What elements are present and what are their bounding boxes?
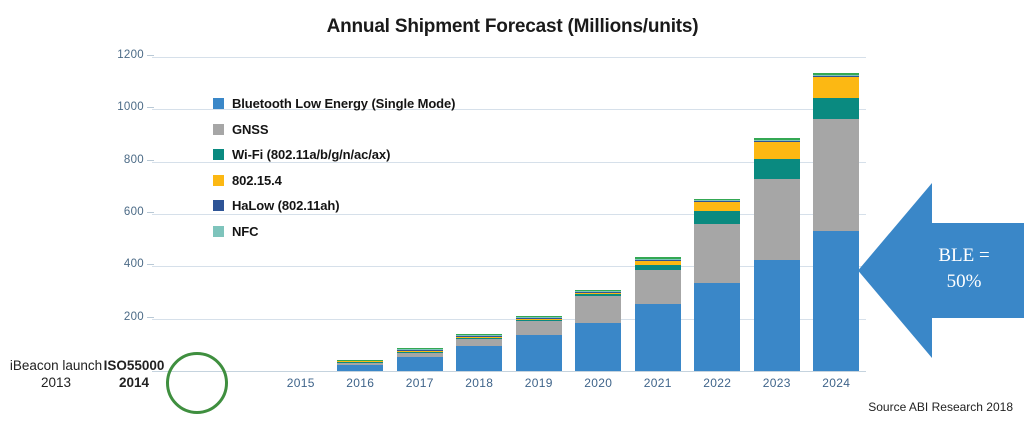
bar-2017	[397, 348, 443, 371]
bar-segment	[813, 77, 859, 98]
y-axis-tick-1200: 1200	[100, 49, 144, 61]
legend-swatch-icon	[213, 124, 224, 135]
y-tick-mark	[147, 264, 154, 265]
bar-segment	[694, 224, 740, 283]
bar-segment	[813, 231, 859, 371]
page-title: Annual Shipment Forecast (Millions/units…	[0, 16, 1025, 38]
bar-2021	[635, 257, 681, 371]
legend-swatch-icon	[213, 200, 224, 211]
y-tick-mark	[147, 212, 154, 213]
legend-swatch-icon	[213, 226, 224, 237]
highlight-circle-2015	[166, 352, 228, 414]
legend-item-label: Bluetooth Low Energy (Single Mode)	[232, 96, 455, 111]
legend-swatch-icon	[213, 175, 224, 186]
bar-segment	[635, 304, 681, 371]
legend-item-label: GNSS	[232, 122, 268, 137]
ble-callout-line2: 50%	[912, 269, 1016, 295]
bar-segment	[694, 211, 740, 224]
bar-segment	[337, 365, 383, 371]
legend-swatch-icon	[213, 149, 224, 160]
legend-item-0[interactable]: Bluetooth Low Energy (Single Mode)	[213, 91, 455, 117]
bar-segment	[754, 260, 800, 371]
bar-segment	[754, 142, 800, 159]
legend-swatch-icon	[213, 98, 224, 109]
y-axis-tick-800: 800	[100, 154, 144, 166]
legend-item-label: NFC	[232, 224, 258, 239]
legend-item-label: 802.15.4	[232, 173, 282, 188]
y-tick-mark	[147, 107, 154, 108]
ble-callout-line1: BLE =	[912, 243, 1016, 269]
ble-callout-arrow: BLE = 50%	[858, 183, 1024, 358]
bar-segment	[456, 339, 502, 346]
x-axis-tick-2024: 2024	[791, 376, 881, 390]
y-tick-mark	[147, 160, 154, 161]
bar-2016	[337, 360, 383, 371]
y-axis-tick-200: 200	[100, 311, 144, 323]
legend-item-3[interactable]: 802.15.4	[213, 168, 455, 194]
bar-segment	[456, 346, 502, 371]
y-axis-tick-600: 600	[100, 206, 144, 218]
y-axis-tick-400: 400	[100, 258, 144, 270]
bar-segment	[813, 98, 859, 119]
bar-segment	[754, 159, 800, 179]
y-tick-mark	[147, 55, 154, 56]
legend-item-label: Wi-Fi (802.11a/b/g/n/ac/ax)	[232, 147, 390, 162]
chart-legend: Bluetooth Low Energy (Single Mode)GNSSWi…	[213, 91, 455, 244]
annotation-iso-label: ISO55000	[104, 358, 165, 373]
bar-segment	[575, 323, 621, 371]
bar-segment	[516, 335, 562, 371]
bar-segment	[635, 270, 681, 304]
bar-segment	[575, 296, 621, 322]
y-axis-tick-1000: 1000	[100, 101, 144, 113]
ble-callout-text: BLE = 50%	[912, 243, 1016, 294]
legend-item-2[interactable]: Wi-Fi (802.11a/b/g/n/ac/ax)	[213, 142, 455, 168]
bar-segment	[516, 321, 562, 335]
bar-2024	[813, 73, 859, 371]
legend-item-5[interactable]: NFC	[213, 219, 455, 245]
bar-segment	[813, 119, 859, 232]
legend-item-4[interactable]: HaLow (802.11ah)	[213, 193, 455, 219]
bar-segment	[694, 283, 740, 371]
source-attribution: Source ABI Research 2018	[868, 400, 1013, 414]
legend-item-label: HaLow (802.11ah)	[232, 198, 340, 213]
bar-2018	[456, 334, 502, 371]
gridline	[152, 57, 866, 58]
bar-2019	[516, 316, 562, 371]
bar-2023	[754, 138, 800, 371]
bar-segment	[397, 357, 443, 371]
x-axis-line	[152, 371, 866, 372]
bar-2020	[575, 290, 621, 371]
legend-item-1[interactable]: GNSS	[213, 117, 455, 143]
bar-segment	[754, 179, 800, 260]
bar-segment	[694, 202, 740, 211]
y-tick-mark	[147, 317, 154, 318]
bar-2022	[694, 199, 740, 371]
